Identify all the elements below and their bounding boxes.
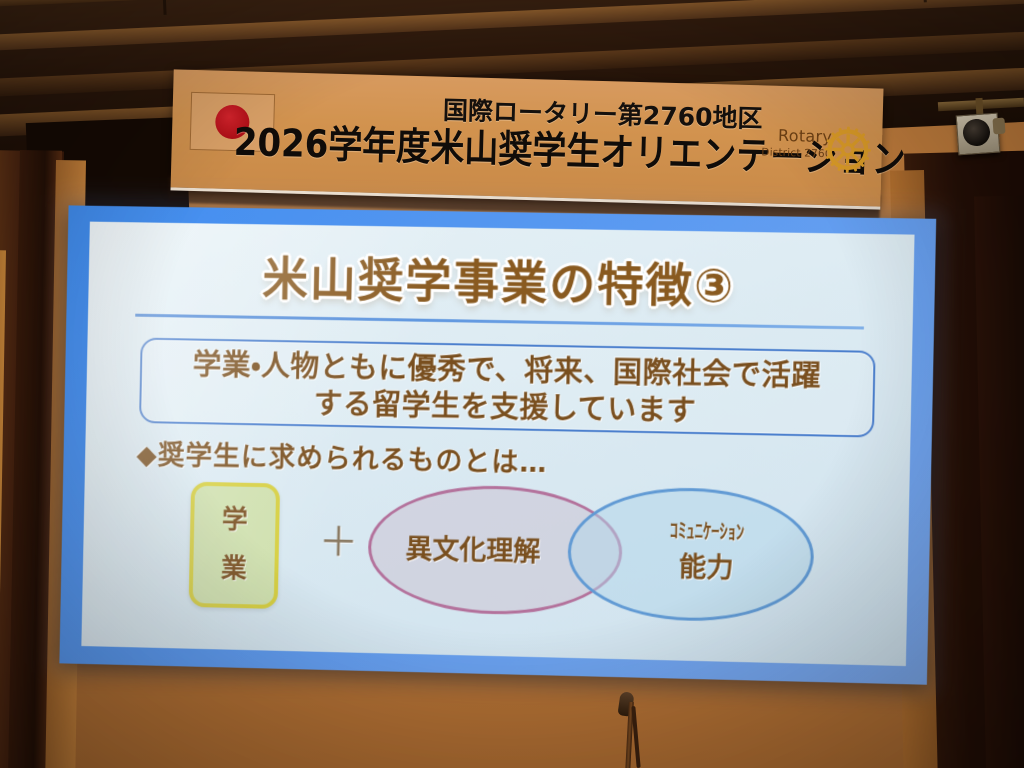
spotlight-knob [992, 118, 1005, 135]
callout-text: 学業・人物ともに優秀で、将来、国際社会で活躍 する留学生を支援しています [149, 346, 865, 434]
slide-content-area: 米山奨学事業の特徴③ 学業・人物ともに優秀で、将来、国際社会で活躍 する留学生を… [81, 222, 914, 666]
academics-box-char-1: 学 [221, 496, 248, 546]
screenshot-stage: 国際ロータリー第2760地区 2026学年度米山奨学生オリエンテーション Rot… [0, 0, 1024, 768]
slide-title: 米山奨学事業の特徴③ [88, 239, 914, 319]
callout-box: 学業・人物ともに優秀で、将来、国際社会で活躍 する留学生を支援しています [139, 338, 876, 438]
rotary-district-label: District 2760 [758, 146, 832, 160]
plus-operator-icon: ＋ [318, 522, 359, 563]
event-banner: 国際ロータリー第2760地区 2026学年度米山奨学生オリエンテーション Rot… [170, 69, 883, 209]
rotary-logo: Rotary District 2760 [757, 121, 875, 184]
academics-box-char-2: 業 [220, 545, 247, 595]
academics-box: 学 業 [189, 482, 281, 609]
communication-label-top: ｺﾐｭﾆｹｰｼｮﾝ [628, 514, 786, 547]
ceiling-beam-tick [923, 0, 927, 2]
ceiling-beam-tick [162, 0, 166, 15]
projected-slide: 米山奨学事業の特徴③ 学業・人物ともに優秀で、将来、国際社会で活躍 する留学生を… [59, 205, 936, 684]
rotary-brand-name: Rotary [758, 127, 832, 146]
cross-cultural-label: 異文化理解 [371, 526, 575, 569]
venn-diagram: 学 業 ＋ 異文化理解 ｺﾐｭﾆｹｰｼｮﾝ 能力 [82, 470, 910, 659]
rotary-logo-text: Rotary District 2760 [758, 127, 833, 160]
communication-label-bottom: 能力 [610, 544, 802, 587]
communication-ellipse: ｺﾐｭﾆｹｰｼｮﾝ 能力 [567, 486, 815, 624]
rotary-wheel-icon [823, 125, 872, 174]
